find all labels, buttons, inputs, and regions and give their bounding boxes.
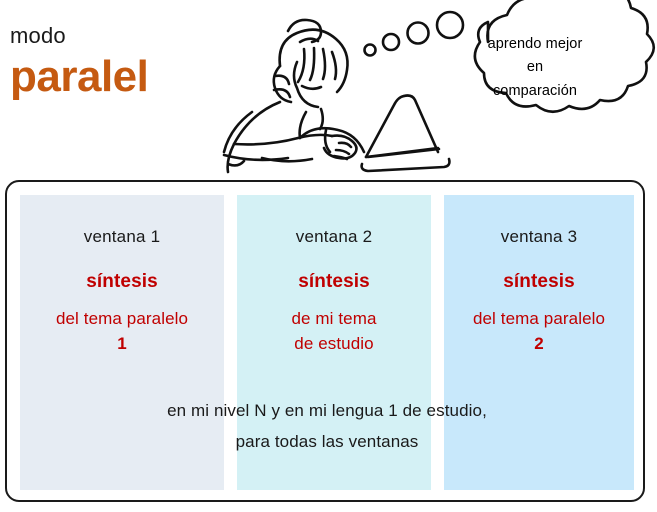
thought-line-1: aprendo mejor	[455, 33, 615, 56]
synthesis-detail-2-line1: de mi tema	[237, 307, 431, 332]
slide-canvas: modo paralel	[0, 0, 657, 512]
synthesis-detail-2: de mi tema de estudio	[237, 307, 431, 356]
window-panel-2[interactable]: ventana 2 síntesis de mi tema de estudio	[237, 195, 431, 490]
window-panel-3[interactable]: ventana 3 síntesis del tema paralelo 2	[444, 195, 634, 490]
window-label-3: ventana 3	[444, 227, 634, 247]
thought-line-2: en	[455, 56, 615, 79]
window-panel-2-body: ventana 2 síntesis de mi tema de estudio	[237, 195, 431, 356]
synthesis-detail-3: del tema paralelo 2	[444, 307, 634, 356]
synthesis-detail-3-line1: del tema paralelo	[444, 307, 634, 332]
window-panel-3-body: ventana 3 síntesis del tema paralelo 2	[444, 195, 634, 356]
synthesis-detail-1: del tema paralelo 1	[20, 307, 224, 356]
window-panel-1[interactable]: ventana 1 síntesis del tema paralelo 1	[20, 195, 224, 490]
windows-columns: ventana 1 síntesis del tema paralelo 1 v…	[7, 182, 647, 504]
synthesis-detail-1-line2: 1	[20, 332, 224, 357]
windows-board: ventana 1 síntesis del tema paralelo 1 v…	[5, 180, 645, 502]
synthesis-heading-3: síntesis	[444, 271, 634, 293]
window-label-1: ventana 1	[20, 227, 224, 247]
header-area: modo paralel	[0, 0, 657, 178]
synthesis-detail-3-line2: 2	[444, 332, 634, 357]
synthesis-heading-1: síntesis	[20, 271, 224, 293]
mode-name: paralel	[10, 54, 225, 100]
synthesis-detail-1-line1: del tema paralelo	[20, 307, 224, 332]
window-panel-1-body: ventana 1 síntesis del tema paralelo 1	[20, 195, 224, 356]
thought-line-3: comparación	[455, 80, 615, 103]
mode-label: modo	[10, 24, 225, 48]
thought-bubble-text: aprendo mejor en comparación	[455, 33, 615, 103]
synthesis-detail-2-line2: de estudio	[237, 332, 431, 357]
synthesis-heading-2: síntesis	[237, 271, 431, 293]
title-block: modo paralel	[10, 24, 225, 100]
window-label-2: ventana 2	[237, 227, 431, 247]
